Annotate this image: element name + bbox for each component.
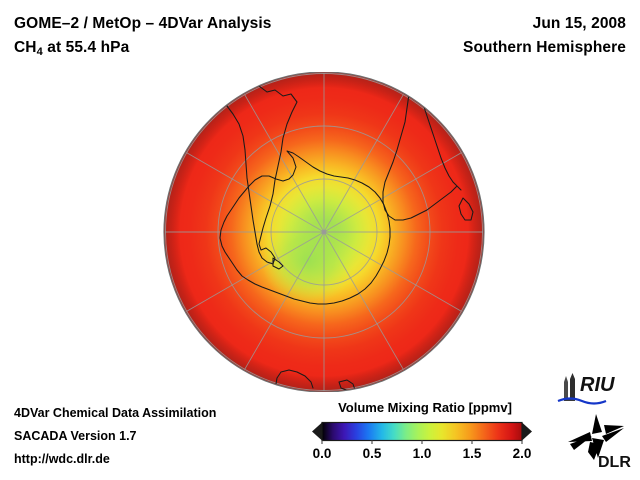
footer-line-version: SACADA Version 1.7 bbox=[14, 425, 216, 448]
colorbar-tick-3: 1.5 bbox=[463, 446, 482, 461]
date-label: Jun 15, 2008 bbox=[326, 12, 626, 36]
globe-svg bbox=[163, 72, 485, 392]
south-pole-marker bbox=[322, 230, 327, 235]
pressure-level: at 55.4 hPa bbox=[43, 39, 130, 56]
footer-line-assimilation: 4DVar Chemical Data Assimilation bbox=[14, 402, 216, 425]
colorbar-extend-high bbox=[522, 423, 532, 441]
globe-map bbox=[163, 72, 485, 392]
header-right-block: Jun 15, 2008 Southern Hemisphere bbox=[326, 12, 626, 60]
colorbar-gradient bbox=[322, 423, 522, 441]
colorbar: Volume Mixing Ratio [ppmv] bbox=[306, 400, 538, 466]
colorbar-tick-labels: 0.0 0.5 1.0 1.5 2.0 bbox=[306, 446, 538, 466]
colorbar-tick-0: 0.0 bbox=[313, 446, 332, 461]
riu-cathedral-icon bbox=[564, 373, 575, 401]
colorbar-graphic bbox=[306, 420, 538, 444]
colorbar-svg bbox=[306, 420, 538, 444]
footer-line-url[interactable]: http://wdc.dlr.de bbox=[14, 448, 216, 471]
colorbar-tick-4: 2.0 bbox=[513, 446, 532, 461]
dlr-wordmark: DLR bbox=[598, 454, 631, 470]
species-name: CH bbox=[14, 39, 37, 56]
footer-left-block: 4DVar Chemical Data Assimilation SACADA … bbox=[14, 402, 216, 471]
riu-logo: RIU bbox=[556, 372, 632, 406]
dlr-logo: DLR bbox=[562, 412, 632, 470]
colorbar-extend-low bbox=[312, 423, 322, 441]
dlr-logo-svg: DLR bbox=[562, 412, 632, 470]
colorbar-tick-1: 0.5 bbox=[363, 446, 382, 461]
colorbar-title: Volume Mixing Ratio [ppmv] bbox=[312, 400, 538, 415]
region-label: Southern Hemisphere bbox=[326, 36, 626, 60]
riu-wordmark: RIU bbox=[580, 374, 615, 396]
colorbar-tick-2: 1.0 bbox=[413, 446, 432, 461]
riu-logo-svg: RIU bbox=[556, 372, 632, 406]
